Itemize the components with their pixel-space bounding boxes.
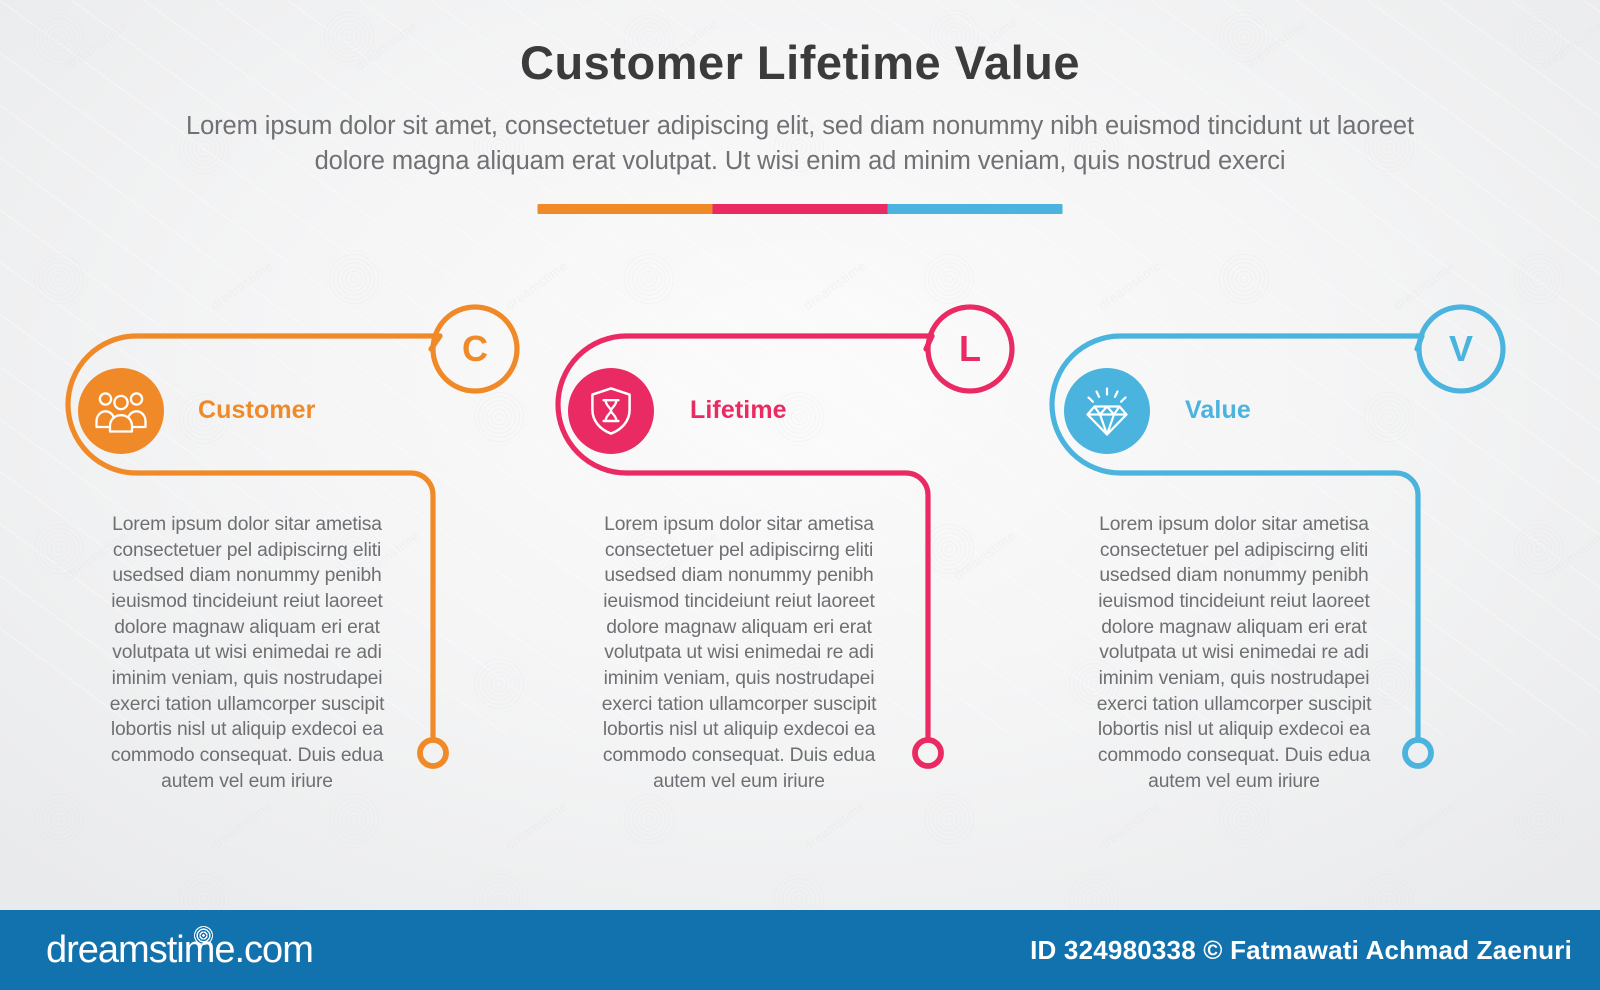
dreamstime-spiral-icon (194, 926, 213, 945)
shield-hourglass-icon (589, 386, 633, 436)
watermark-text: dreamstime (208, 258, 276, 313)
terminal-ring-1 (915, 740, 941, 766)
card-title-value: Value (1185, 396, 1251, 425)
divider-segment-pink (713, 204, 888, 214)
badge-letter-l-text: L (959, 328, 981, 370)
icon-circle-value (1064, 368, 1150, 454)
color-divider (538, 204, 1063, 214)
page-title: Customer Lifetime Value (0, 38, 1600, 87)
divider-segment-blue (888, 204, 1063, 214)
watermark-spiral-icon (920, 250, 978, 308)
watermark-text: dreamstime (801, 258, 869, 313)
watermark-spiral-icon (1510, 520, 1568, 578)
terminal-ring-0 (420, 740, 446, 766)
badge-letter-v-text: V (1449, 328, 1473, 370)
watermark-text: dreamstime (503, 798, 571, 853)
watermark-text: dreamstime (208, 798, 276, 853)
icon-circle-lifetime (568, 368, 654, 454)
watermark-spiral-icon (920, 520, 978, 578)
badge-letter-c-text: C (462, 328, 488, 370)
watermark-spiral-icon (920, 790, 978, 848)
badge-letter-v: V (1417, 305, 1505, 393)
watermark-text: dreamstime (1391, 798, 1459, 853)
watermark-spiral-icon (325, 250, 383, 308)
people-group-icon (95, 389, 147, 433)
card-title-customer: Customer (198, 396, 316, 425)
watermark-spiral-icon (1215, 790, 1273, 848)
watermark-text: dreamstime (801, 798, 869, 853)
icon-circle-customer (78, 368, 164, 454)
watermark-spiral-icon (30, 250, 88, 308)
page-subtitle: Lorem ipsum dolor sit amet, consectetuer… (150, 109, 1450, 178)
card-body-customer: Lorem ipsum dolor sitar ametisa consecte… (97, 512, 397, 794)
watermark-text: dreamstime (1096, 798, 1164, 853)
card-title-lifetime: Lifetime (690, 396, 787, 425)
watermark-spiral-icon (30, 520, 88, 578)
watermark-text: dreamstime (1541, 528, 1600, 583)
watermark-spiral-icon (620, 790, 678, 848)
watermark-text: dreamstime (1096, 258, 1164, 313)
watermark-spiral-icon (1360, 388, 1418, 446)
diamond-gem-icon (1081, 386, 1133, 436)
image-credit: ID 324980338 © Fatmawati Achmad Zaenuri (1030, 935, 1572, 966)
watermark-text: dreamstime (951, 528, 1019, 583)
watermark-spiral-icon (325, 790, 383, 848)
watermark-spiral-icon (470, 655, 528, 713)
dreamstime-logo[interactable]: dreamstime.com (46, 929, 313, 972)
watermark-spiral-icon (620, 250, 678, 308)
watermark-spiral-icon (1215, 250, 1273, 308)
card-body-value: Lorem ipsum dolor sitar ametisa consecte… (1084, 512, 1384, 794)
terminal-ring-2 (1405, 740, 1431, 766)
watermark-spiral-icon (1510, 250, 1568, 308)
footer-bar: dreamstime.com ID 324980338 © Fatmawati … (0, 910, 1600, 990)
card-body-lifetime: Lorem ipsum dolor sitar ametisa consecte… (589, 512, 889, 794)
badge-letter-c: C (431, 305, 519, 393)
header: Customer Lifetime Value Lorem ipsum dolo… (0, 38, 1600, 179)
watermark-spiral-icon (30, 790, 88, 848)
watermark-spiral-icon (1510, 790, 1568, 848)
dreamstime-logo-text: dreamstime.com (46, 929, 313, 972)
watermark-spiral-icon (470, 388, 528, 446)
badge-letter-l: L (926, 305, 1014, 393)
infographic-canvas: dreamstimedreamstimedreamstimedreamstime… (0, 0, 1600, 990)
divider-segment-orange (538, 204, 713, 214)
